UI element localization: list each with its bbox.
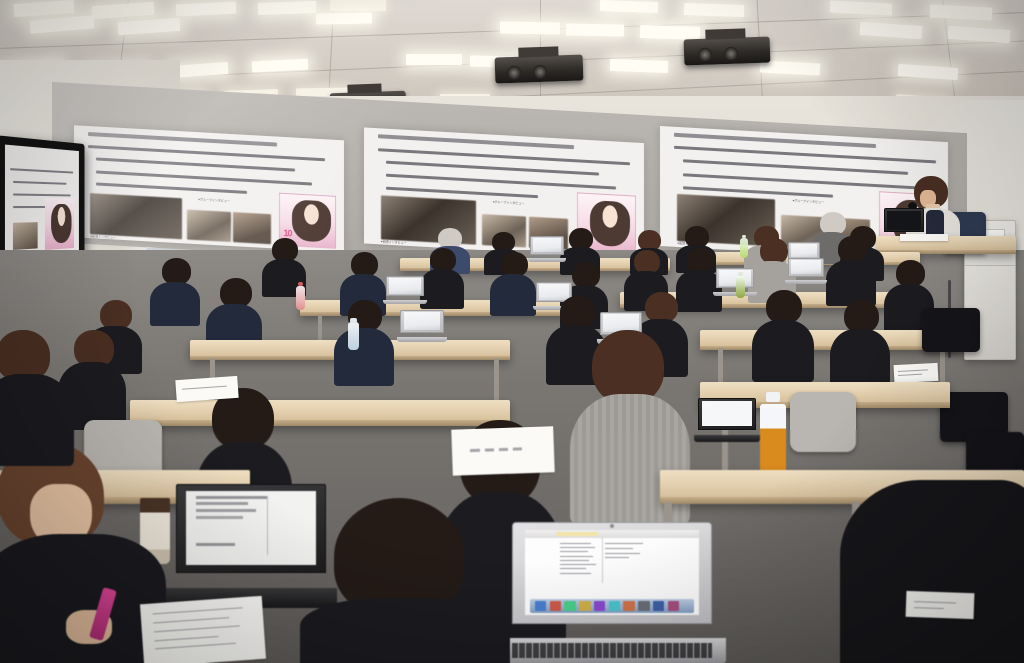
attendee: [420, 248, 464, 306]
monitor-screen: [5, 145, 79, 262]
foreground-attendee: [300, 498, 510, 663]
attendee-torso: [840, 480, 1024, 663]
slide-caption: ●グループインタビュー: [198, 197, 230, 203]
ceiling-light-fixture: [760, 60, 821, 75]
ceiling-light-fixture: [948, 26, 1011, 43]
document-window[interactable]: [525, 530, 699, 601]
slide-photo: [90, 193, 182, 238]
magazine-number: 10: [283, 228, 291, 237]
floor-bag: [922, 308, 980, 352]
attendee: [826, 236, 876, 302]
attendee: [752, 290, 814, 376]
handout-paper: [906, 591, 975, 619]
monitor-photo: [13, 222, 38, 250]
foreground-laptop-macbook[interactable]: [512, 522, 712, 663]
attendee-laptop: [698, 398, 756, 442]
seminar-room-photo: 10 ●グループインタビュー ●街頭インタビュー 10 ●グループインタビュー …: [0, 0, 1024, 663]
slide-caption: ●グループインタビュー: [493, 200, 525, 206]
ceiling-light-fixture: [258, 1, 316, 15]
attendee-torso: [300, 598, 510, 663]
window-titlebar: [525, 530, 699, 538]
attendee: [490, 252, 536, 312]
drink-bottle: [736, 276, 745, 298]
attendee: [830, 300, 890, 388]
projector-center: [495, 54, 584, 83]
attendee-laptop: [788, 258, 824, 284]
ceiling-light-fixture: [316, 13, 372, 25]
slide-caption: ●街頭インタビュー: [90, 234, 116, 239]
handout-paper: [175, 376, 238, 402]
macos-dock[interactable]: [530, 599, 694, 613]
ceiling-light-fixture: [600, 0, 658, 13]
attendee-torso: [570, 394, 690, 524]
attendee-chair: [790, 392, 856, 452]
drink-bottle: [348, 322, 359, 350]
attendee-head: [592, 330, 664, 404]
ceiling-light-fixture: [14, 0, 75, 17]
macbook-screen[interactable]: [525, 530, 699, 615]
ceiling-light-fixture: [566, 23, 624, 36]
ceiling-light-fixture: [684, 3, 744, 17]
attendee-laptop: [716, 268, 754, 296]
macbook-keyboard[interactable]: [498, 638, 726, 663]
ceiling-light-fixture: [930, 4, 993, 20]
drink-bottle: [296, 286, 305, 310]
foreground-attendee-far-left: [0, 330, 70, 460]
macbook-lid: [512, 522, 712, 624]
slide-photo: [187, 210, 230, 242]
webcam-icon: [610, 524, 614, 528]
presenter-handout: [900, 234, 948, 241]
ceiling-light-fixture: [92, 2, 155, 19]
ceiling-light-fixture: [610, 59, 668, 73]
ceiling-light-fixture: [406, 54, 462, 65]
attendee-laptop: [400, 310, 444, 342]
foreground-attendee-right: [840, 470, 1024, 663]
ceiling-light-fixture: [500, 21, 560, 34]
projected-slide: 10 ●グループインタビュー ●街頭インタビュー: [74, 125, 344, 252]
drink-bottle: [760, 404, 786, 480]
slide-caption: ●街頭インタビュー: [381, 240, 407, 245]
highlighted-text: [556, 532, 598, 536]
ceiling-light-fixture: [176, 1, 237, 16]
ceiling-light-fixture: [830, 0, 893, 15]
drink-bottle: [740, 238, 748, 258]
slide-caption: ●グループインタビュー: [792, 198, 824, 204]
attendee: [150, 258, 200, 322]
ceiling-light-fixture: [330, 0, 386, 11]
ceiling-light-fixture: [118, 18, 181, 35]
note-paper: [140, 596, 266, 663]
attendee: [334, 300, 394, 382]
ceiling-light-fixture: [30, 15, 95, 34]
ceiling-light-fixture: [860, 22, 923, 39]
projector-right: [684, 37, 771, 66]
ceiling-light-fixture: [640, 25, 700, 40]
handout-paper: [894, 363, 939, 383]
handout-paper: [451, 426, 555, 476]
slide-header-bar: [88, 132, 277, 147]
laptop-screen[interactable]: [186, 491, 316, 565]
monitor-magazine-cover: [45, 198, 74, 250]
